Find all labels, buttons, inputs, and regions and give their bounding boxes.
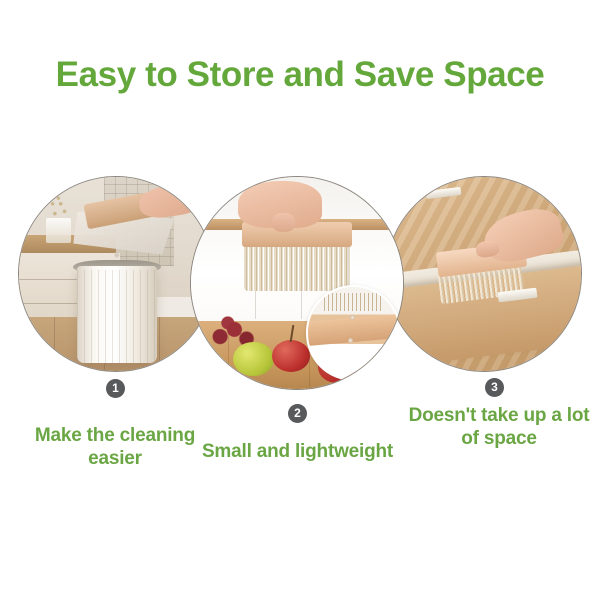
photo-circle-1 <box>18 176 214 372</box>
feature-caption-3: Doesn't take up a lot of space <box>400 404 598 450</box>
feature-panel-1 <box>18 176 214 372</box>
floor-plank-line <box>159 317 160 371</box>
scene-brush-into-drawer <box>387 177 581 371</box>
inset-screw <box>348 338 353 343</box>
feature-panel-2 <box>190 176 386 390</box>
photo-circle-2 <box>190 176 404 390</box>
step-badge-2: 2 <box>288 404 307 423</box>
feature-panel-3 <box>386 176 582 372</box>
scene-dustpan-into-bin <box>19 177 213 371</box>
step-badge-1: 1 <box>106 379 125 398</box>
step-badge-3: 3 <box>485 378 504 397</box>
white-trash-can <box>77 266 157 363</box>
scene-brush-over-fruit <box>191 177 403 389</box>
inset-screw <box>350 315 355 320</box>
red-apple <box>272 340 310 372</box>
infographic-root: Easy to Store and Save Space <box>0 0 600 600</box>
green-apple <box>233 342 273 376</box>
inset-detail-circle <box>306 285 401 380</box>
glass-vase <box>46 218 71 243</box>
photo-circle-3 <box>386 176 582 372</box>
brush-bristles <box>244 245 350 292</box>
feature-caption-1: Make the cleaning easier <box>10 424 220 470</box>
floor-plank-line <box>54 317 55 371</box>
feature-caption-2: Small and lightweight <box>195 440 400 463</box>
inset-bristle-comb <box>324 293 382 311</box>
thumb <box>272 213 295 232</box>
page-title: Easy to Store and Save Space <box>0 54 600 96</box>
